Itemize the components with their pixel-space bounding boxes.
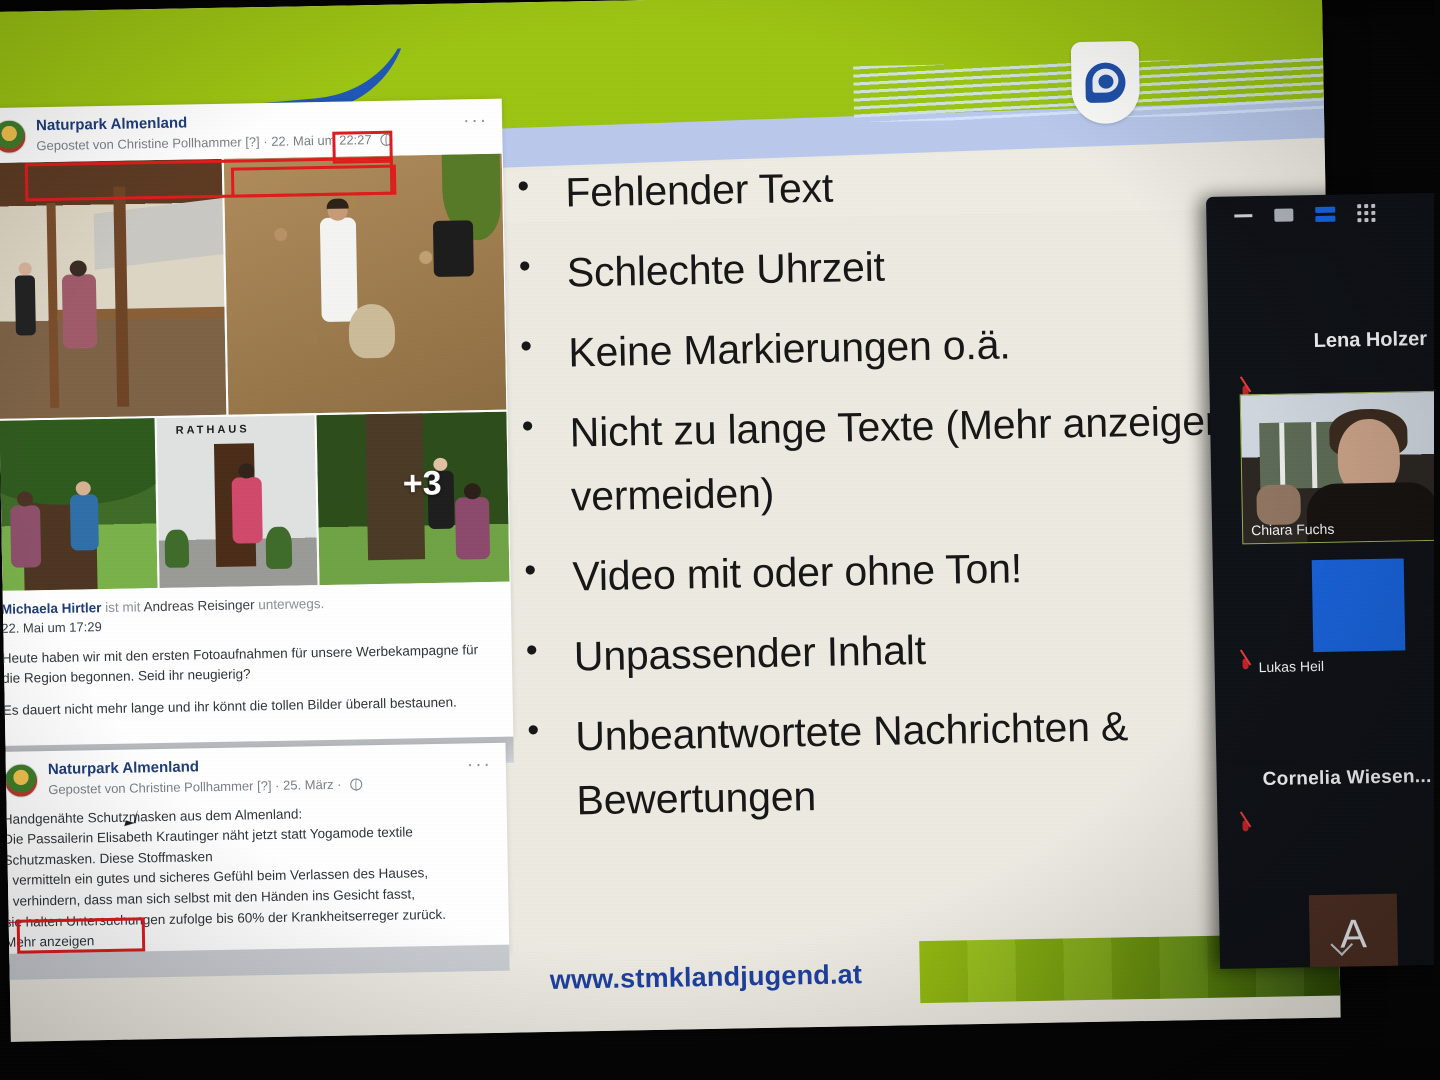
post-text: Handgenähte Schutzmasken aus dem Almenla… [0, 797, 509, 954]
speaker-view-icon[interactable] [1315, 206, 1335, 221]
bullet-item: Keine Markierungen o.ä. [510, 309, 1231, 386]
photo-rathaus[interactable]: RATHAUS [155, 414, 318, 589]
video-conference-panel: Lena Holzer Chiara Fuchs Lukas Heil Corn… [1206, 193, 1440, 969]
screen-bezel-right [1434, 0, 1440, 1080]
attribution-friend[interactable]: Andreas Reisinger [143, 597, 254, 614]
bullet-item: Schlechte Uhrzeit [508, 229, 1229, 306]
bullet-item: Nicht zu lange Texte (Mehr anzeigen verm… [511, 389, 1233, 530]
page-avatar [0, 119, 27, 154]
globe-privacy-icon [380, 133, 392, 145]
screen-bezel-bottom [0, 1046, 1440, 1080]
struck-text: sie halten Untersuc [5, 912, 121, 929]
bullet-item: Video mit oder ohne Ton! [514, 533, 1235, 610]
attribution-connector: ist mit [101, 599, 143, 615]
minimize-icon[interactable] [1234, 214, 1252, 217]
restore-icon[interactable] [1274, 208, 1293, 221]
attribution-author[interactable]: Michaela Hirtler [1, 600, 102, 617]
photographed-screen: Fehlender Text Schlechte Uhrzeit Keine M… [0, 0, 1440, 1080]
video-panel-titlebar [1206, 193, 1440, 235]
presentation-slide: Fehlender Text Schlechte Uhrzeit Keine M… [0, 0, 1341, 1042]
photo-count-badge: +3 [402, 465, 441, 505]
post-photo-grid[interactable]: RATHAUS +3 [0, 153, 511, 592]
photo-stone-wall[interactable] [223, 153, 508, 416]
webcam-hand [1256, 484, 1301, 525]
logo-speech-bubble-icon [1085, 62, 1126, 103]
post-paragraph: Es dauert nicht mehr lange und ihr könnt… [3, 691, 501, 721]
participant-tile-initial-a[interactable]: A [1218, 860, 1440, 968]
struck-text-rest: hungen zufolge bis 60% der Krankheitserr… [120, 906, 446, 927]
footer-website-url: www.stmklandjugend.at [550, 959, 863, 996]
bullet-item: Unpassender Inhalt [515, 613, 1236, 690]
post-body: Michaela Hirtler ist mit Andreas Reising… [0, 583, 513, 743]
attribution-tail: unterwegs. [254, 596, 324, 612]
bullet-item: Unbeantwortete Nachrichten & Bewertungen [517, 693, 1239, 834]
post-more-options-button[interactable]: ··· [463, 111, 488, 130]
participant-name: Cornelia Wiesen... [1262, 766, 1431, 791]
landjugend-logo [1071, 41, 1140, 124]
rathaus-sign-text: RATHAUS [176, 423, 250, 436]
page-avatar [4, 763, 39, 798]
facebook-post-card-2: Naturpark Almenland Gepostet von Christi… [0, 743, 509, 964]
muted-microphone-icon [1237, 819, 1252, 838]
photo-tree-group[interactable] [0, 417, 159, 592]
avatar-initial: A [1309, 894, 1398, 969]
post-meta-text: Gepostet von Christine Pollhammer [?] · … [48, 776, 342, 796]
post-header: Naturpark Almenland Gepostet von Christi… [0, 743, 506, 806]
participant-name: Lena Holzer [1313, 328, 1427, 353]
participant-tile-lena-holzer[interactable]: Lena Holzer [1207, 231, 1440, 395]
facebook-post-card-1: Naturpark Almenland Gepostet von Christi… [0, 99, 513, 748]
participant-tile-cornelia-wiesen[interactable]: Cornelia Wiesen... [1215, 710, 1440, 864]
participant-name: Chiara Fuchs [1251, 521, 1335, 539]
post-header: Naturpark Almenland Gepostet von Christi… [0, 99, 503, 162]
slide-bullet-list: Fehlender Text Schlechte Uhrzeit Keine M… [507, 149, 1239, 850]
bullet-item: Fehlender Text [507, 149, 1228, 226]
post-more-options-button[interactable]: ··· [467, 755, 492, 774]
post-text: Heute haben wir mit den ersten Fotoaufna… [2, 639, 501, 721]
muted-microphone-icon [1237, 657, 1252, 676]
participant-name: Lukas Heil [1258, 658, 1324, 675]
gallery-view-icon[interactable] [1357, 204, 1375, 222]
globe-privacy-icon [350, 778, 362, 790]
participant-tile-chiara-fuchs[interactable]: Chiara Fuchs [1240, 390, 1440, 544]
photo-terrace[interactable] [0, 158, 227, 420]
participant-tile-lukas-heil[interactable]: Lukas Heil [1212, 540, 1440, 714]
photo-more-overlay[interactable]: +3 [315, 411, 510, 586]
post-paragraph: Heute haben wir mit den ersten Fotoaufna… [2, 639, 501, 689]
slide-header-swoosh [3, 48, 434, 108]
avatar-placeholder [1312, 558, 1406, 652]
